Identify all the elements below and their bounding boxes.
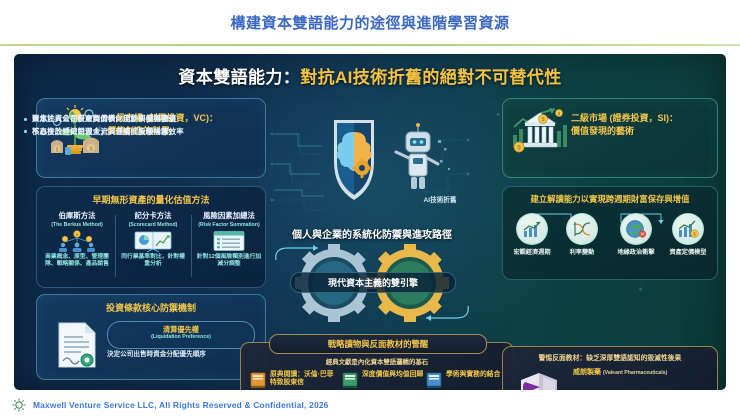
cycle-analysis-card[interactable]: 建立解讀能力以實現跨週期財富保存與增值 宏觀經濟週期	[502, 186, 718, 280]
valuation-methods-title: 早期無形資產的量化估值方法	[37, 193, 265, 206]
valeant-company-cn: 威朗製藥	[573, 369, 601, 376]
book-title: 原典閱讀：沃倫·巴菲特致股東信	[270, 371, 334, 388]
defense-offense-path-title: 個人與企業的系統化防禦與進攻路徑	[272, 226, 472, 241]
main-infographic-panel: 資本雙語能力：對抗AI技術折舊的絕對不可替代性 $	[14, 54, 726, 390]
book-title: 學術與實務的結合	[446, 371, 510, 379]
bar-chart-up-icon	[516, 213, 548, 245]
method-title: 伯庫斯方法	[43, 212, 111, 221]
dual-engine-label: 現代資本主義的雙引擎	[290, 272, 456, 293]
investment-terms-card[interactable]: 投資條款核心防禦機制 清算優先權 (Liquidation Preference…	[36, 294, 266, 380]
strategic-reading-title: 戰略讀物與反面教材的警醒	[328, 338, 429, 350]
method-title: 風險因素加總法	[195, 212, 263, 221]
method-subtitle: (The Berkus Method)	[43, 222, 111, 228]
strategic-reading-subtitle: 經典文獻是內化資本雙語邏輯的基石	[241, 357, 513, 366]
svg-text:$: $	[56, 147, 59, 153]
checklist-icon	[207, 230, 251, 252]
book-blue-icon	[425, 371, 443, 389]
team-coins-icon: $	[55, 230, 99, 252]
slide-footer: Maxwell Venture Service LLC, All Rights …	[0, 394, 740, 416]
cycle-item-macro[interactable]: 宏觀經濟週期	[507, 213, 557, 256]
panel-title-accent: 對抗AI技術折舊的絕對不可替代性	[300, 68, 561, 87]
robot-icon	[396, 123, 450, 189]
divider	[115, 215, 116, 277]
company-seal-icon	[12, 398, 26, 412]
method-scorecard[interactable]: 記分卡方法 (Scorecard Method) 同行業基準對比，針對權重分析	[119, 212, 187, 282]
slide-root: 構建資本雙語能力的途徑與進階學習資源 資本雙語能力：對抗AI技術折舊的絕對不可替…	[0, 0, 740, 416]
header-divider	[0, 44, 740, 46]
globe-risk-icon	[620, 213, 652, 245]
method-description: 商業概念、原型、管理團隊、戰略關係、產品銷售	[43, 254, 111, 268]
strategic-reading-pill: 戰略讀物與反面教材的警醒	[269, 334, 487, 354]
ai-disruption-label: AI技術折舊	[404, 194, 476, 204]
book-title: 深度價值與均值回歸	[362, 371, 426, 379]
panel-title: 資本雙語能力：對抗AI技術折舊的絕對不可替代性	[14, 63, 726, 88]
interest-curve-icon	[566, 213, 598, 245]
secondary-market-heading: 二級市場 (證券投資，SI)： 價值發現的藝術	[571, 112, 713, 138]
cycle-item-label: 利率變動	[557, 249, 607, 256]
document-seal-icon	[53, 321, 101, 369]
secondary-market-bullets: 聚焦於資金在股東間的橫向流動與價格發現 不直接改變公司現金流，但高度反映信息效率	[24, 114, 222, 140]
secondary-market-card[interactable]: $ $ $ 二級市場 (證券投資，SI)： 價值發現的藝術	[502, 98, 718, 178]
method-description: 同行業基準對比，針對權重分析	[119, 254, 187, 268]
svg-text:$: $	[693, 232, 696, 237]
chart-board-icon	[131, 230, 175, 252]
cycle-item-rates[interactable]: 利率變動	[557, 213, 607, 256]
liquidation-preference-callout[interactable]: 清算優先權 (Liquidation Preference)	[107, 321, 255, 349]
valeant-company-en: (Valeant Pharmaceuticals)	[603, 370, 667, 376]
bank-growth-icon: $ $ $	[511, 105, 569, 157]
broken-shield-warning-icon	[513, 367, 569, 390]
cycle-item-label: 宏觀經濟週期	[507, 249, 557, 256]
cycle-item-geopolitics[interactable]: 地緣政治衝擊	[611, 213, 661, 256]
strategic-reading-card[interactable]: 戰略讀物與反面教材的警醒 經典文獻是內化資本雙語邏輯的基石 原典閱讀：沃倫·巴菲…	[240, 342, 514, 390]
secondary-market-heading-line2: 價值發現的藝術	[571, 125, 713, 138]
term-name-en: (Liquidation Preference)	[108, 335, 254, 341]
method-subtitle: (Risk Factor Summation)	[195, 222, 263, 228]
method-title: 記分卡方法	[119, 212, 187, 221]
term-description: 決定公司出售時資金分配優先順序	[107, 351, 257, 360]
panel-title-primary: 資本雙語能力：	[178, 68, 300, 87]
valeant-warning-card[interactable]: 警惕反面教材：缺乏深厚雙語認知的毀滅性後果 威朗製藥 (Valeant Phar…	[502, 346, 718, 390]
book-orange-icon	[249, 371, 267, 389]
asset-pricing-icon: $	[672, 213, 704, 245]
method-risk-factor[interactable]: 風險因素加總法 (Risk Factor Summation) 針對12個風險類…	[195, 212, 263, 282]
secondary-market-heading-line1: 二級市場 (證券投資，SI)：	[571, 112, 713, 125]
cycle-analysis-title: 建立解讀能力以實現跨週期財富保存與增值	[503, 193, 717, 205]
valuation-methods-card[interactable]: 早期無形資產的量化估值方法 伯庫斯方法 (The Berkus Method) …	[36, 186, 266, 288]
footer-copyright: Maxwell Venture Service LLC, All Rights …	[33, 400, 329, 410]
valeant-warning-title: 警惕反面教材：缺乏深厚雙語認知的毀滅性後果	[503, 352, 717, 362]
investment-terms-title: 投資條款核心防禦機制	[37, 301, 265, 314]
list-item: 聚焦於資金在股東間的橫向流動與價格發現	[24, 114, 222, 124]
book-green-icon	[341, 371, 359, 389]
method-berkus[interactable]: 伯庫斯方法 (The Berkus Method) $ 商業概念、原型、管理團隊…	[43, 212, 111, 282]
method-description: 針對12個風險類別進行加減分調整	[195, 254, 263, 268]
divider	[191, 215, 192, 277]
list-item: 不直接改變公司現金流，但高度反映信息效率	[24, 127, 222, 137]
valeant-company-name: 威朗製藥 (Valeant Pharmaceuticals)	[573, 367, 713, 377]
cycle-item-label: 資產定價模型	[663, 249, 713, 256]
slide-header: 構建資本雙語能力的途徑與進階學習資源	[0, 0, 740, 44]
ai-brain-shield-icon	[334, 120, 374, 200]
cycle-item-pricing[interactable]: $ 資產定價模型	[663, 213, 713, 256]
method-subtitle: (Scorecard Method)	[119, 222, 187, 228]
cycle-item-label: 地緣政治衝擊	[611, 249, 661, 256]
page-title: 構建資本雙語能力的途徑與進階學習資源	[230, 12, 509, 33]
